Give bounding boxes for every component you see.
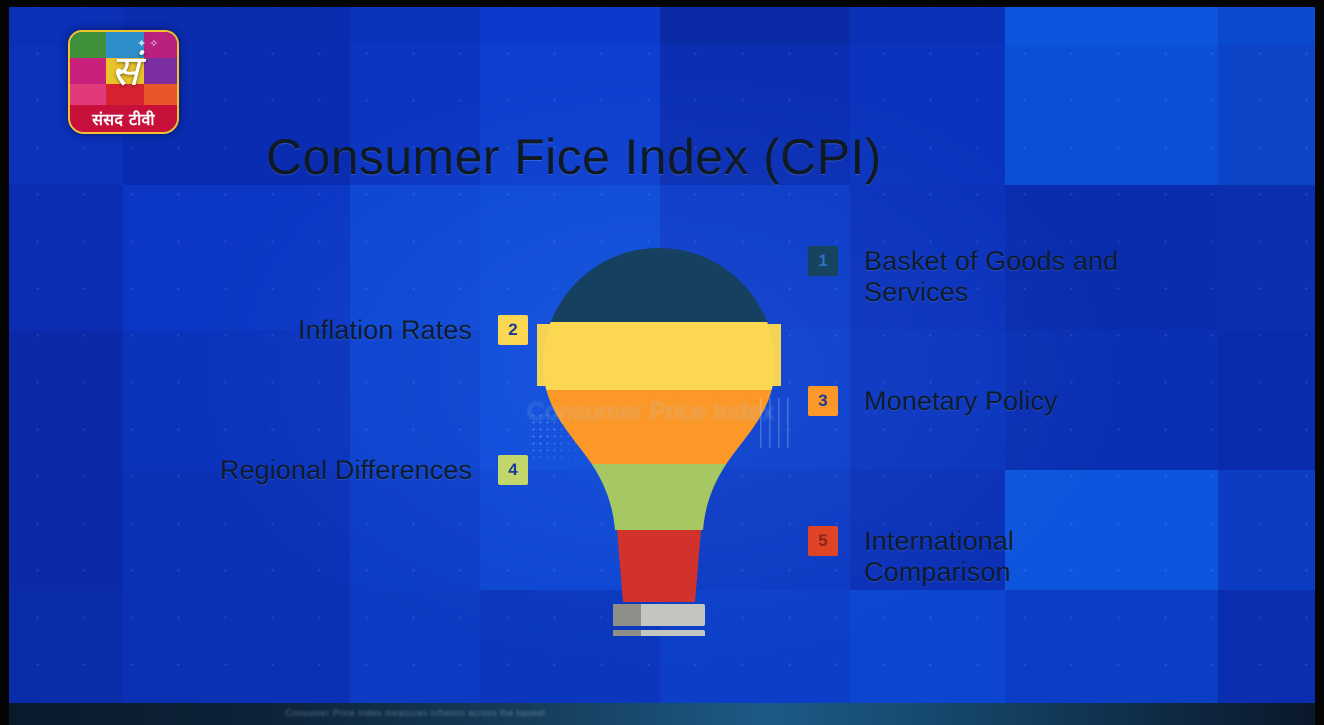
player-ghost-caption: Consumer Price Index measures inflation …: [285, 708, 755, 720]
letterbox-left: [0, 0, 9, 725]
logo-monogram: सं: [70, 34, 177, 104]
status-badge: 3: [808, 386, 838, 416]
logo-wordmark: संसद टीवी: [70, 105, 177, 132]
bulb-base-shade-1: [613, 604, 641, 626]
list-item-label: Regional Differences: [204, 455, 472, 486]
page-title: Consumer Fice Index (CPI): [266, 128, 882, 186]
letterbox-right: [1315, 0, 1324, 725]
list-item[interactable]: 3 Monetary Policy: [808, 386, 1058, 417]
ghost-overlay-text: Consumer Price Index: [527, 398, 802, 438]
band-green: [537, 464, 781, 536]
slide-canvas: ✦ ✧ सं संसद टीवी Consumer Fice Index (CP…: [0, 0, 1324, 725]
band-navy: [537, 246, 781, 322]
channel-logo: ✦ ✧ सं संसद टीवी: [68, 30, 179, 134]
status-badge: 5: [808, 526, 838, 556]
list-item[interactable]: 5 International Comparison: [808, 526, 1074, 587]
list-item-label: Inflation Rates: [204, 315, 472, 346]
list-item-label: Monetary Policy: [864, 386, 1058, 417]
status-badge: 2: [498, 315, 528, 345]
list-item-label: Basket of Goods and Services: [864, 246, 1129, 307]
list-item[interactable]: 1 Basket of Goods and Services: [808, 246, 1129, 307]
list-item[interactable]: Regional Differences 4: [204, 455, 528, 486]
list-item-label: International Comparison: [864, 526, 1074, 587]
status-badge: 1: [808, 246, 838, 276]
status-badge: 4: [498, 455, 528, 485]
list-item[interactable]: Inflation Rates 2: [204, 315, 528, 346]
band-yellow-slab: [537, 324, 781, 386]
bulb-base-shade-2: [613, 630, 641, 636]
band-red: [617, 530, 701, 602]
letterbox-top: [0, 0, 1324, 7]
